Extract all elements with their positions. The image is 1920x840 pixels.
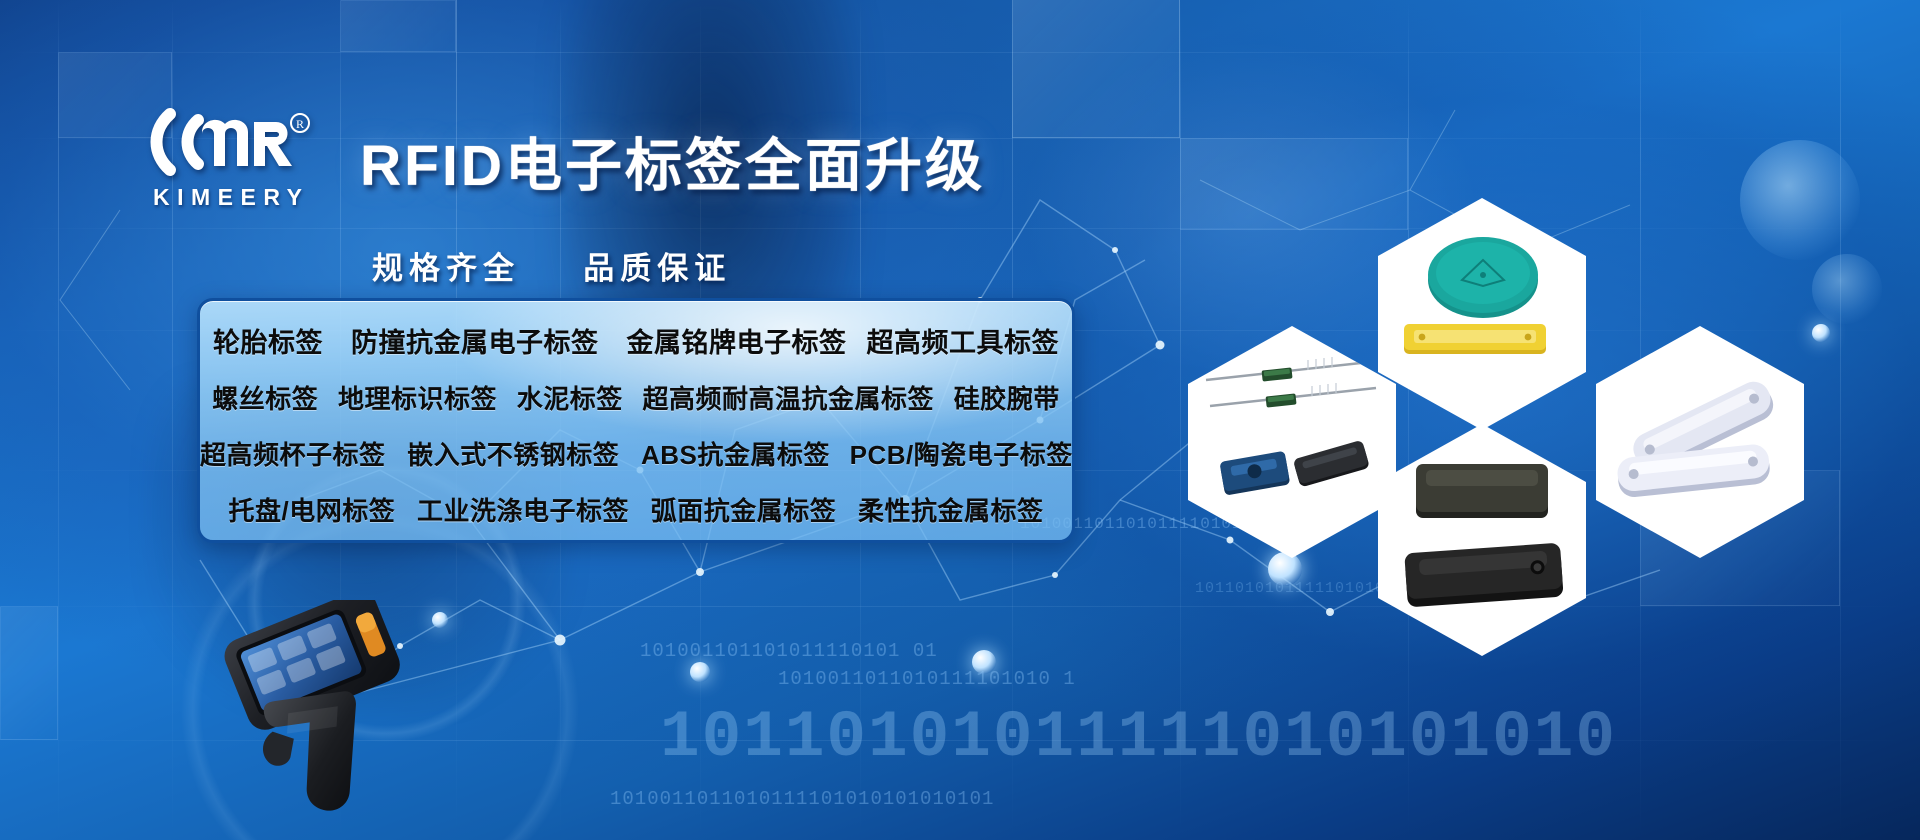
- product-item: 超高频耐高温抗金属标签: [642, 371, 934, 427]
- product-item: 超高频杯子标签: [200, 427, 386, 483]
- svg-text:R: R: [296, 117, 304, 131]
- glow-node: [690, 662, 710, 682]
- product-row: 螺丝标签 地理标识标签 水泥标签 超高频耐高温抗金属标签 硅胶腕带: [200, 371, 1072, 427]
- product-row: 轮胎标签 防撞抗金属电子标签 金属铭牌电子标签 超高频工具标签: [200, 315, 1072, 371]
- subheadline: 规格齐全 品质保证: [372, 243, 731, 288]
- brand-logo: R KIMEERY: [140, 104, 315, 211]
- brand-name: KIMEERY: [140, 184, 315, 211]
- screw-tag-pair-icon: [1206, 434, 1386, 514]
- product-item: 金属铭牌电子标签: [627, 315, 847, 371]
- product-item: 螺丝标签: [212, 371, 318, 427]
- product-item: 弧面抗金属标签: [651, 483, 837, 539]
- handheld-rfid-reader: [195, 600, 445, 830]
- round-anti-metal-tag-icon: [1424, 236, 1542, 322]
- glow-node: [972, 650, 996, 674]
- product-item: 水泥标签: [517, 371, 623, 427]
- product-item: 地理标识标签: [338, 371, 497, 427]
- product-item: PCB/陶瓷电子标签: [850, 427, 1073, 483]
- rfid-promo-banner: 10100110110101111010101 1010011011010111…: [0, 0, 1920, 840]
- page-title: RFID电子标签全面升级: [360, 120, 985, 202]
- product-item: 硅胶腕带: [954, 371, 1060, 427]
- product-row: 超高频杯子标签 嵌入式不锈钢标签 ABS抗金属标签 PCB/陶瓷电子标签: [200, 427, 1072, 483]
- product-item: 柔性抗金属标签: [858, 483, 1044, 539]
- product-item: 防撞抗金属电子标签: [351, 315, 599, 371]
- kimeery-wave-mark-icon: R: [140, 104, 315, 178]
- pcb-ceramic-tag-icon: [1408, 454, 1558, 524]
- glow-node: [1268, 552, 1302, 586]
- product-row: 托盘/电网标签 工业洗涤电子标签 弧面抗金属标签 柔性抗金属标签: [200, 483, 1072, 539]
- product-item: 轮胎标签: [213, 315, 323, 371]
- subheadline-left: 规格齐全: [372, 251, 520, 286]
- product-item: 工业洗涤电子标签: [417, 483, 629, 539]
- product-item: ABS抗金属标签: [641, 427, 830, 483]
- product-item: 超高频工具标签: [867, 315, 1060, 371]
- black-abs-anti-metal-tag-icon: [1396, 530, 1572, 616]
- flexible-white-tag-icon: [1606, 374, 1796, 512]
- yellow-uhf-tag-icon: [1400, 316, 1550, 364]
- product-list-box: 轮胎标签 防撞抗金属电子标签 金属铭牌电子标签 超高频工具标签 螺丝标签 地理标…: [197, 298, 1075, 543]
- product-item: 嵌入式不锈钢标签: [407, 427, 619, 483]
- product-item: 托盘/电网标签: [229, 483, 396, 539]
- subheadline-right: 品质保证: [583, 251, 731, 286]
- glow-node: [1812, 324, 1830, 342]
